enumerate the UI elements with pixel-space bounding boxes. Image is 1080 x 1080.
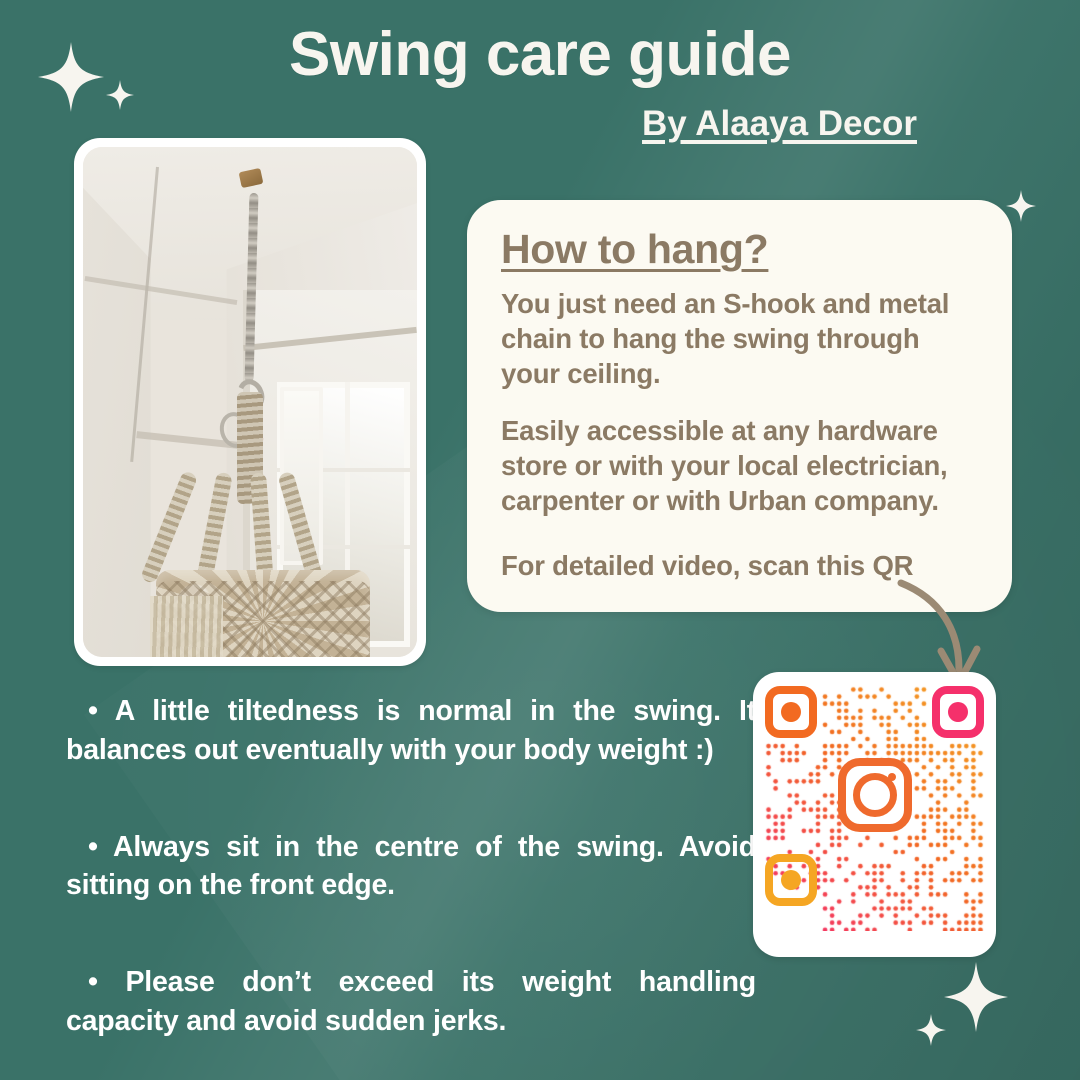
swing-photo xyxy=(83,147,417,657)
sparkle-top-right-small-icon xyxy=(1006,190,1036,222)
care-tip-lead: • Please don’t exceed its weight handlin… xyxy=(66,966,756,998)
qr-finder-bottom-left xyxy=(765,854,817,906)
sparkle-bottom-right-small-icon xyxy=(916,1014,946,1046)
sparkle-bottom-right-large-icon xyxy=(944,962,1008,1032)
instagram-icon xyxy=(838,758,912,832)
page-subtitle-byline: By Alaaya Decor xyxy=(642,104,917,144)
care-tip-lead: • Always sit in the centre of the swing. xyxy=(66,831,664,863)
care-tips-list: • A little tiltedness is normal in the s… xyxy=(66,692,756,1041)
how-to-hang-card: How to hang? You just need an S-hook and… xyxy=(467,200,1012,612)
card-heading: How to hang? xyxy=(501,226,978,273)
swing-photo-frame xyxy=(74,138,426,666)
qr-code-matrix[interactable] xyxy=(765,686,984,931)
care-tip-rest: capacity and avoid sudden jerks. xyxy=(66,1005,506,1037)
page-title: Swing care guide xyxy=(0,22,1080,87)
poster-canvas: Swing care guide By Alaaya Decor xyxy=(0,0,1080,1080)
card-paragraph-1: You just need an S-hook and metal chain … xyxy=(501,287,978,392)
card-paragraph-2: Easily accessible at any hardware store … xyxy=(501,414,978,519)
instagram-qr-card[interactable] xyxy=(753,672,996,957)
list-item: • Please don’t exceed its weight handlin… xyxy=(66,963,756,1041)
list-item: • A little tiltedness is normal in the s… xyxy=(66,692,756,770)
qr-finder-top-left xyxy=(765,686,817,738)
list-item: • Always sit in the centre of the swing.… xyxy=(66,828,756,906)
qr-finder-top-right xyxy=(932,686,984,738)
care-tip-lead: • A little tiltedness is normal in the s… xyxy=(66,695,721,727)
